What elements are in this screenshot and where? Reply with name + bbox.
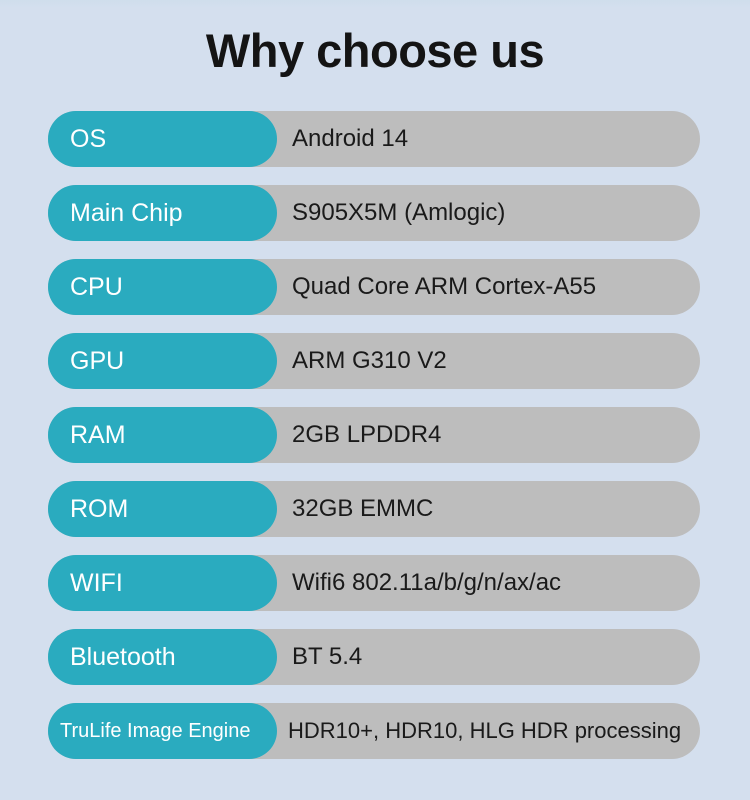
spec-row-os: OS Android 14 xyxy=(0,111,750,167)
spec-row-ram: RAM 2GB LPDDR4 xyxy=(0,407,750,463)
spec-row-cpu: CPU Quad Core ARM Cortex-A55 xyxy=(0,259,750,315)
spec-value-text: Wifi6 802.11a/b/g/n/ax/ac xyxy=(292,555,561,611)
spec-row-gpu: GPU ARM G310 V2 xyxy=(0,333,750,389)
spec-row-bluetooth: Bluetooth BT 5.4 xyxy=(0,629,750,685)
spec-label-pill: TruLife Image Engine xyxy=(48,703,277,759)
spec-label-text: Main Chip xyxy=(70,201,183,226)
spec-value-text: HDR10+, HDR10, HLG HDR processing xyxy=(288,703,681,759)
spec-card: Why choose us OS Android 14 Main Chip S9… xyxy=(0,0,750,800)
spec-value-text: 32GB EMMC xyxy=(292,481,433,537)
spec-label-pill: GPU xyxy=(48,333,277,389)
spec-label-text: RAM xyxy=(70,423,126,448)
page-title: Why choose us xyxy=(0,24,750,78)
spec-label-text: GPU xyxy=(70,349,124,374)
spec-label-text: ROM xyxy=(70,497,128,522)
spec-label-pill: CPU xyxy=(48,259,277,315)
spec-label-text: OS xyxy=(70,127,106,152)
spec-label-pill: RAM xyxy=(48,407,277,463)
spec-value-text: 2GB LPDDR4 xyxy=(292,407,441,463)
spec-value-text: S905X5M (Amlogic) xyxy=(292,185,505,241)
spec-row-trulife-image-engine: TruLife Image Engine HDR10+, HDR10, HLG … xyxy=(0,703,750,759)
spec-label-text: CPU xyxy=(70,275,123,300)
spec-row-main-chip: Main Chip S905X5M (Amlogic) xyxy=(0,185,750,241)
spec-label-pill: OS xyxy=(48,111,277,167)
spec-label-text: WIFI xyxy=(70,571,123,596)
spec-label-text: Bluetooth xyxy=(70,645,176,670)
spec-label-pill: Bluetooth xyxy=(48,629,277,685)
spec-value-text: BT 5.4 xyxy=(292,629,362,685)
spec-value-text: Quad Core ARM Cortex-A55 xyxy=(292,259,596,315)
spec-value-text: Android 14 xyxy=(292,111,408,167)
spec-row-wifi: WIFI Wifi6 802.11a/b/g/n/ax/ac xyxy=(0,555,750,611)
spec-list: OS Android 14 Main Chip S905X5M (Amlogic… xyxy=(0,111,750,777)
spec-label-text: TruLife Image Engine xyxy=(60,721,250,741)
spec-value-text: ARM G310 V2 xyxy=(292,333,447,389)
spec-row-rom: ROM 32GB EMMC xyxy=(0,481,750,537)
spec-label-pill: ROM xyxy=(48,481,277,537)
spec-label-pill: Main Chip xyxy=(48,185,277,241)
spec-label-pill: WIFI xyxy=(48,555,277,611)
